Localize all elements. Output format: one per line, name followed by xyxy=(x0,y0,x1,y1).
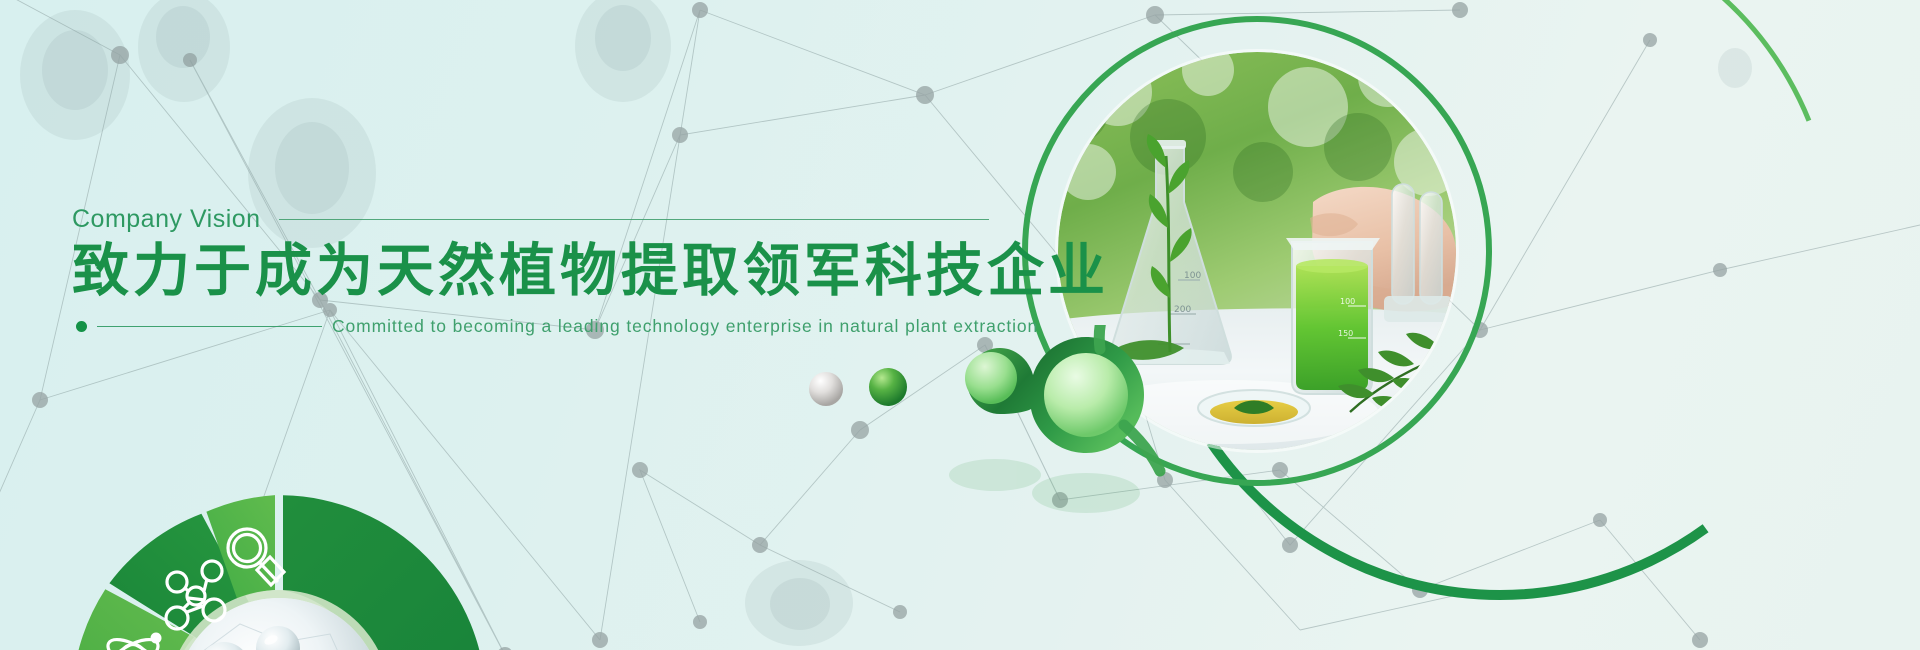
eyebrow-rule xyxy=(279,219,989,220)
lab-photo: 100 200 xyxy=(1058,52,1456,450)
bullet-dot-icon xyxy=(76,321,87,332)
gray-sphere-small xyxy=(809,372,843,406)
svg-text:200: 200 xyxy=(1174,305,1191,315)
subtitle-rule xyxy=(97,326,322,327)
decor-blob xyxy=(595,5,651,71)
subtitle-row: Committed to becoming a leading technolo… xyxy=(72,316,1109,337)
eyebrow-label: Company Vision xyxy=(72,205,261,234)
svg-text:100: 100 xyxy=(1340,297,1355,306)
company-vision-banner: 100 200 xyxy=(0,0,1920,650)
svg-text:100: 100 xyxy=(1184,271,1201,281)
page-title: 致力于成为天然植物提取领军科技企业 xyxy=(72,240,1109,304)
eyebrow-row: Company Vision xyxy=(72,205,1109,234)
svg-text:150: 150 xyxy=(1338,329,1353,338)
decor-blob xyxy=(156,6,210,68)
green-sphere-small xyxy=(869,368,907,406)
subtitle-label: Committed to becoming a leading technolo… xyxy=(332,316,1038,337)
decor-blob xyxy=(770,578,830,630)
vision-text-block: Company Vision 致力于成为天然植物提取领军科技企业 Committ… xyxy=(72,205,1109,337)
decor-blob xyxy=(275,122,349,214)
decor-blob xyxy=(42,30,108,110)
capability-wheel xyxy=(72,402,486,650)
decor-blob xyxy=(1718,48,1752,88)
